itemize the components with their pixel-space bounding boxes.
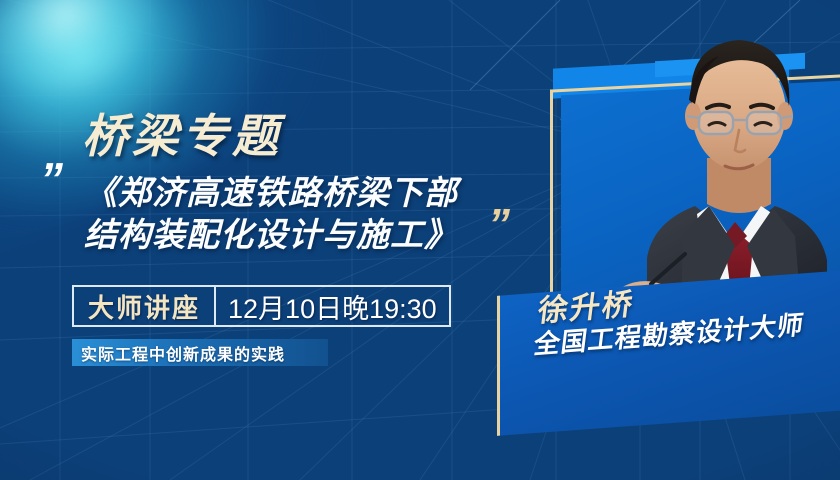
speaker-name-block: 徐升桥 全国工程勘察设计大师 (526, 274, 840, 407)
portrait-illustration (623, 8, 840, 308)
lecture-info-box: 大师讲座 12月10日晚19:30 (72, 285, 451, 327)
webinar-poster: 徐升桥 全国工程勘察设计大师 桥梁专题 ” ” 《郑济高速铁路桥梁下部 结构装配… (0, 0, 840, 480)
lecture-datetime: 12月10日晚19:30 (216, 287, 449, 325)
page-title: 桥梁专题 (82, 100, 282, 166)
book-title: 《郑济高速铁路桥梁下部 结构装配化设计与施工》 (84, 172, 458, 256)
subtitle-strip: 实际工程中创新成果的实践 (72, 339, 328, 366)
lecture-label: 大师讲座 (74, 287, 214, 325)
quote-open-mark: ” (40, 166, 61, 194)
subtitle-text: 实际工程中创新成果的实践 (72, 341, 285, 365)
speaker-portrait (623, 8, 840, 308)
book-title-line-1: 《郑济高速铁路桥梁下部 (84, 172, 458, 214)
quote-close-mark: ” (488, 212, 508, 238)
book-title-line-2: 结构装配化设计与施工》 (84, 214, 458, 256)
